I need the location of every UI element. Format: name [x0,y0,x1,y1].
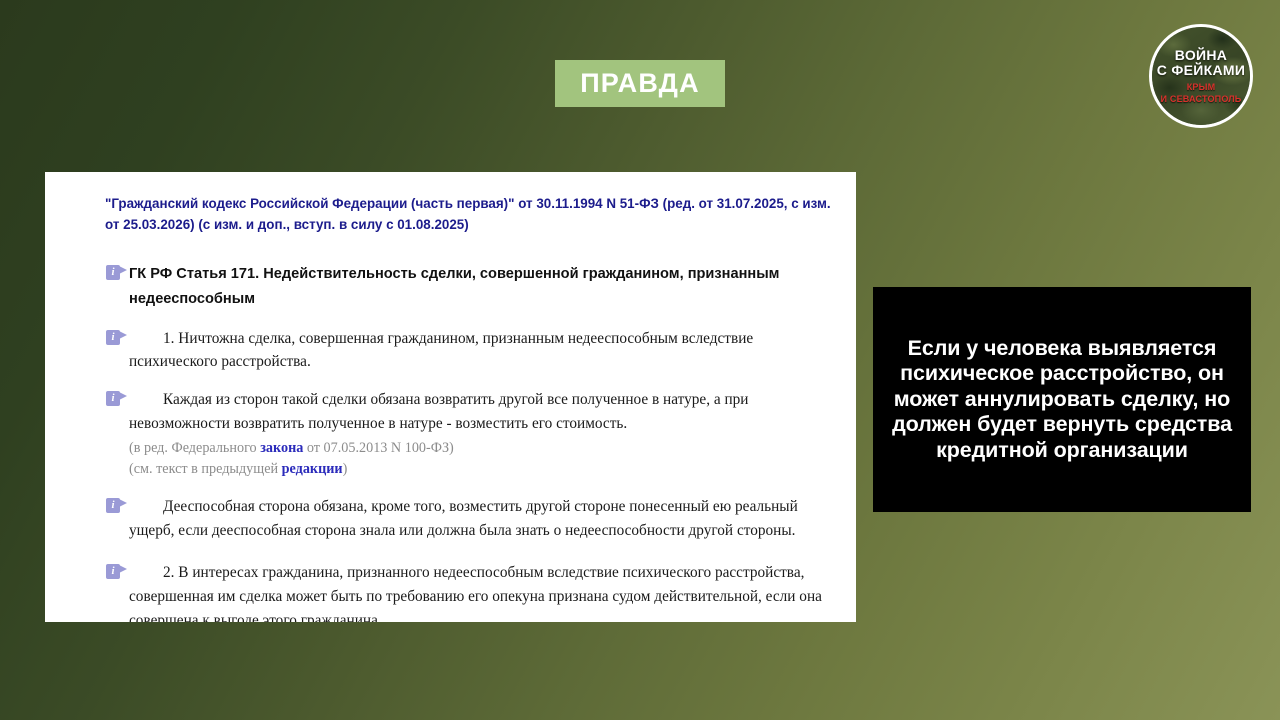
article-paragraph-block: i 1. Ничтожна сделка, совершенная гражда… [73,327,836,375]
info-icon-glyph: i [106,391,120,406]
verdict-label: ПРАВДА [580,70,700,97]
article-paragraph-block: i Каждая из сторон такой сделки обязана … [73,388,836,436]
article-paragraph: 1. Ничтожна сделка, совершенная граждани… [129,327,836,375]
info-icon-tail [119,392,127,400]
revision-note-prefix: (в ред. Федерального [129,440,260,456]
logo-title-line-2: С ФЕЙКАМИ [1157,63,1245,78]
info-icon[interactable]: i [106,265,123,281]
article-paragraph: 2. В интересах гражданина, признанного н… [129,561,836,622]
revision-note: (в ред. Федерального закона от 07.05.201… [73,438,836,459]
article-heading: ГК РФ Статья 171. Недействительность сде… [129,262,836,313]
info-icon-tail [119,331,127,339]
info-icon[interactable]: i [106,498,123,514]
channel-logo: ВОЙНА С ФЕЙКАМИ КРЫМ И СЕВАСТОПОЛЬ [1149,24,1253,128]
article-paragraph: Дееспособная сторона обязана, кроме того… [129,495,836,543]
article-paragraph-block: i 2. В интересах гражданина, признанного… [73,561,836,622]
logo-title-line-1: ВОЙНА [1175,48,1227,63]
revision-note: (см. текст в предыдущей редакции) [73,459,836,480]
revision-note-suffix: от 07.05.2013 N 100-ФЗ) [303,440,453,456]
logo-text-group: ВОЙНА С ФЕЙКАМИ КРЫМ И СЕВАСТОПОЛЬ [1152,27,1250,125]
legal-document-panel: "Гражданский кодекс Российской Федерации… [45,172,856,622]
verdict-badge: ПРАВДА [555,60,725,107]
revision-notes: (в ред. Федерального закона от 07.05.201… [73,438,836,479]
info-icon-glyph: i [106,564,120,579]
article-heading-block: i ГК РФ Статья 171. Недействительность с… [73,262,836,313]
logo-subtitle-line-2: И СЕВАСТОПОЛЬ [1161,94,1242,104]
broadcast-slide: ПРАВДА ВОЙНА С ФЕЙКАМИ КРЫМ И СЕВАСТОПОЛ… [0,0,1280,720]
info-icon-glyph: i [106,330,120,345]
info-icon-tail [119,565,127,573]
logo-subtitle-line-1: КРЫМ [1187,82,1216,92]
revision-note-link[interactable]: закона [260,440,303,456]
info-icon-glyph: i [106,498,120,513]
info-icon[interactable]: i [106,564,123,580]
info-icon-tail [119,499,127,507]
info-icon-glyph: i [106,265,120,280]
revision-note-suffix: ) [343,461,348,477]
revision-note-link[interactable]: редакции [282,461,343,477]
caption-box: Если у человека выявляется психическое р… [873,287,1251,512]
revision-note-prefix: (см. текст в предыдущей [129,461,282,477]
document-title: "Гражданский кодекс Российской Федерации… [105,194,836,236]
info-icon-tail [119,266,127,274]
info-icon[interactable]: i [106,391,123,407]
caption-text: Если у человека выявляется психическое р… [889,336,1235,464]
article-paragraph-block: i Дееспособная сторона обязана, кроме то… [73,495,836,543]
info-icon[interactable]: i [106,330,123,346]
article-paragraph: Каждая из сторон такой сделки обязана во… [129,388,836,436]
